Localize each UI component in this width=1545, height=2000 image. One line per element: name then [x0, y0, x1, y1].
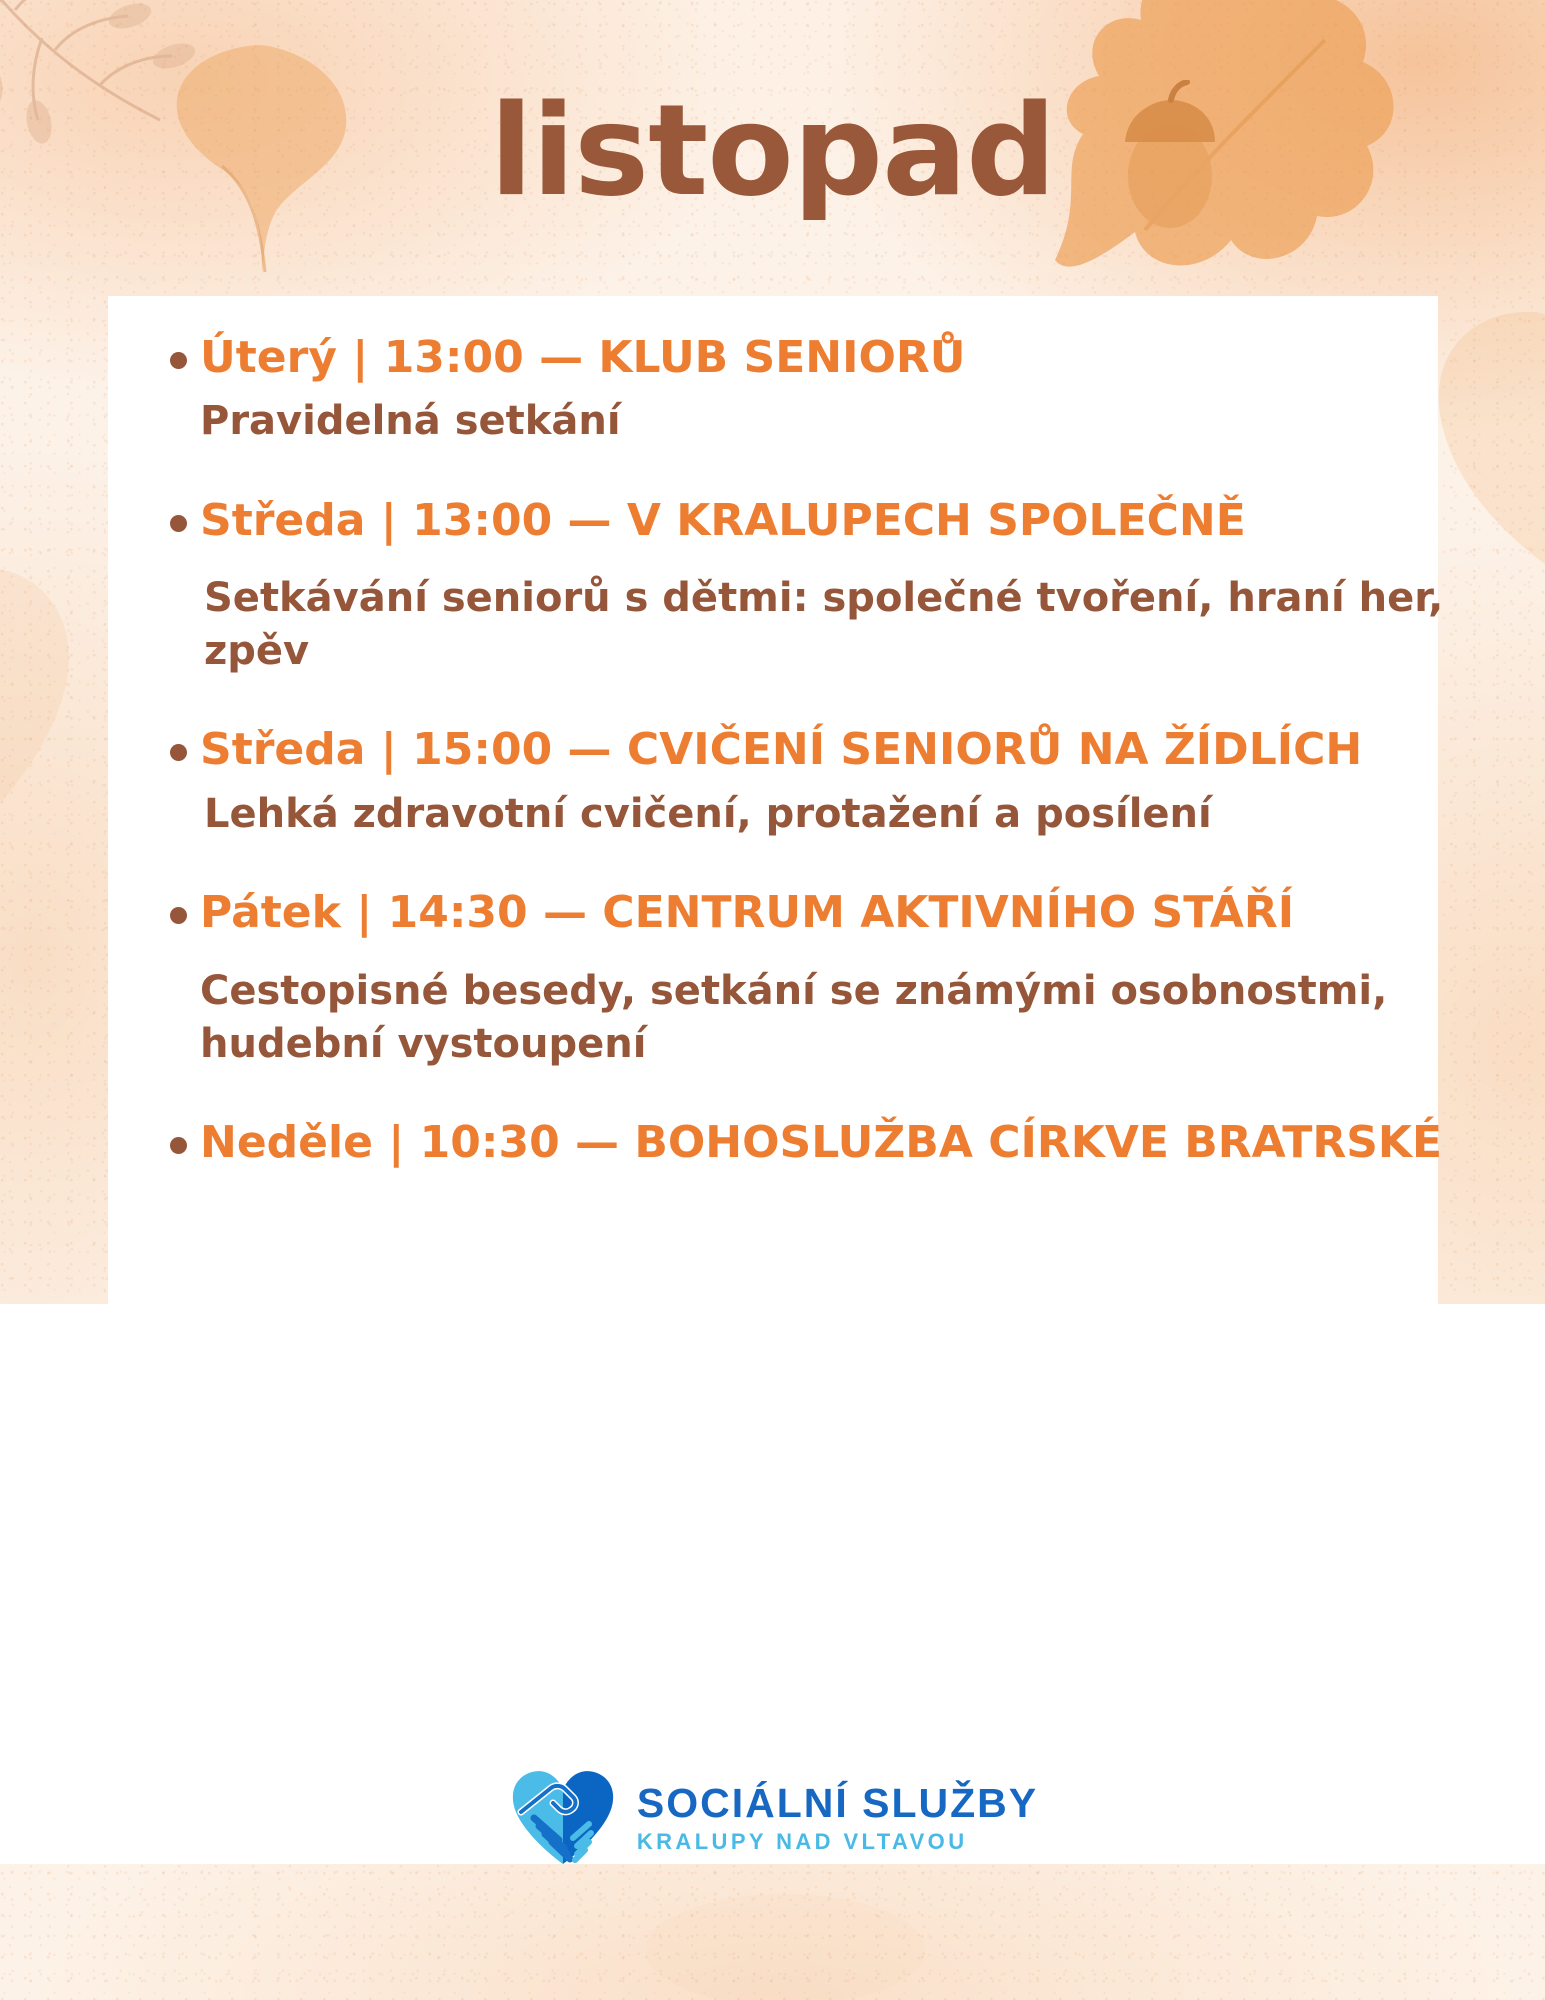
organization-location: KRALUPY NAD VLTAVOU	[637, 1830, 1038, 1854]
heart-handshake-icon	[507, 1768, 619, 1868]
bullet-icon	[170, 515, 187, 532]
poster-root: listopad Úterý | 13:00 — KLUB SENIORŮ Pr…	[0, 0, 1545, 2000]
event-description: Cestopisné besedy, setkání se známými os…	[200, 965, 1448, 1071]
event-headline: Středa | 15:00 — CVIČENÍ SENIORŮ NA ŽÍDL…	[200, 722, 1448, 777]
event-description: Setkávání seniorů s dětmi: společné tvoř…	[204, 572, 1448, 678]
list-item: Neděle | 10:30 — BOHOSLUŽBA CÍRKVE BRATR…	[108, 1115, 1448, 1170]
list-item: Úterý | 13:00 — KLUB SENIORŮ Pravidelná …	[108, 330, 1448, 449]
footer-logo: SOCIÁLNÍ SLUŽBY KRALUPY NAD VLTAVOU	[0, 1768, 1545, 1868]
event-headline: Středa | 13:00 — V KRALUPECH SPOLEČNĚ	[200, 493, 1448, 548]
list-item: Pátek | 14:30 — CENTRUM AKTIVNÍHO STÁŘÍ …	[108, 885, 1448, 1071]
organization-name: SOCIÁLNÍ SLUŽBY	[637, 1782, 1038, 1825]
event-description: Pravidelná setkání	[200, 395, 1448, 448]
page-title: listopad	[0, 88, 1545, 214]
bullet-icon	[170, 744, 187, 761]
poster-title-wrap: listopad	[0, 88, 1545, 214]
bullet-icon	[170, 1137, 187, 1154]
schedule-list: Úterý | 13:00 — KLUB SENIORŮ Pravidelná …	[108, 330, 1448, 1170]
logo-text-block: SOCIÁLNÍ SLUŽBY KRALUPY NAD VLTAVOU	[637, 1782, 1038, 1855]
list-item: Středa | 13:00 — V KRALUPECH SPOLEČNĚ Se…	[108, 493, 1448, 679]
bullet-icon	[170, 352, 187, 369]
event-headline: Neděle | 10:30 — BOHOSLUŽBA CÍRKVE BRATR…	[200, 1115, 1448, 1170]
list-item: Středa | 15:00 — CVIČENÍ SENIORŮ NA ŽÍDL…	[108, 722, 1448, 841]
event-headline: Pátek | 14:30 — CENTRUM AKTIVNÍHO STÁŘÍ	[200, 885, 1448, 940]
bullet-icon	[170, 907, 187, 924]
event-description: Lehká zdravotní cvičení, protažení a pos…	[204, 788, 1448, 841]
event-headline: Úterý | 13:00 — KLUB SENIORŮ	[200, 330, 1448, 385]
